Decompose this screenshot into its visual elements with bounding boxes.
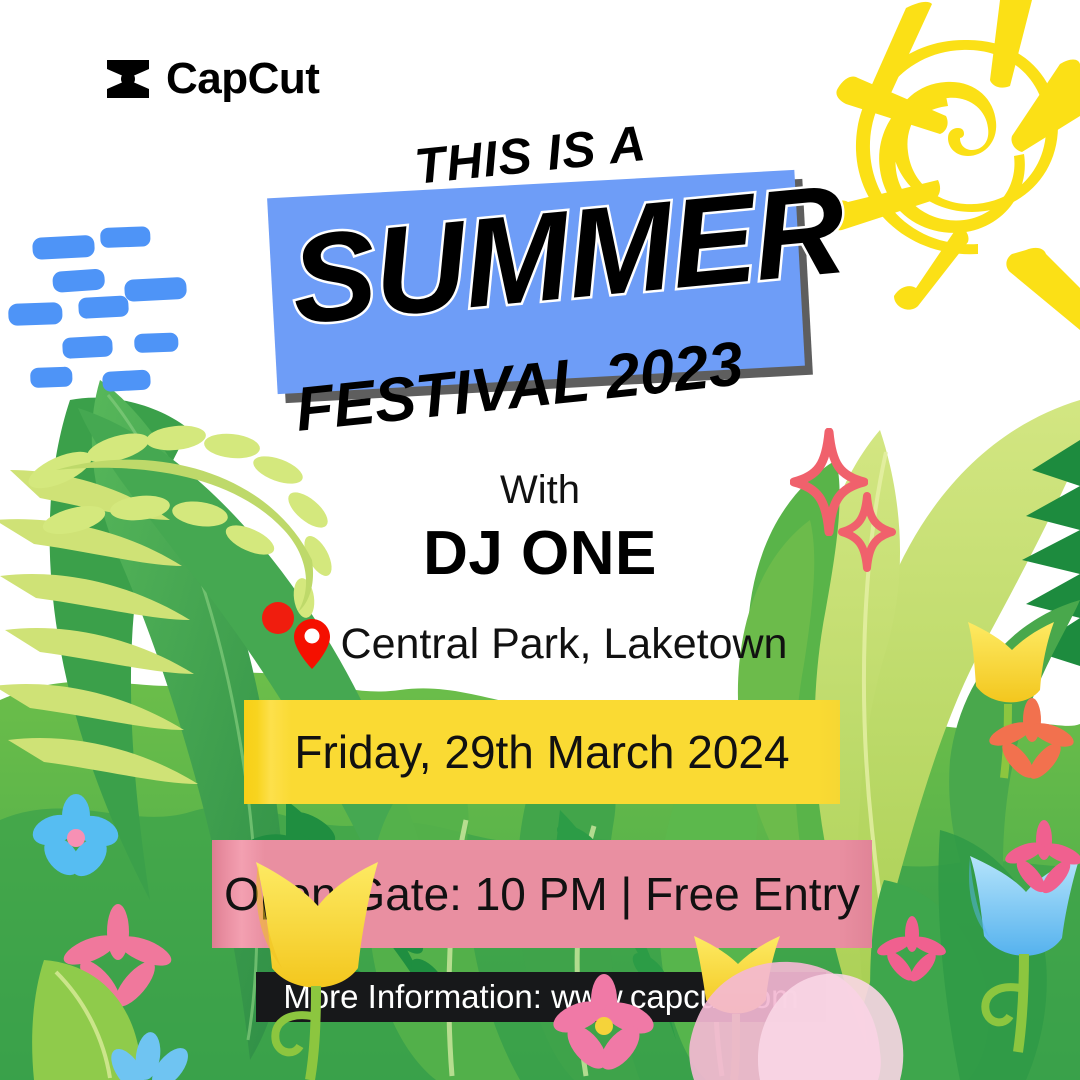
blue-flower-bottom [105, 1031, 195, 1080]
time-banner: Open Gate: 10 PM | Free Entry [212, 840, 872, 948]
location-pin-icon [293, 618, 331, 670]
coral-flower [986, 698, 1077, 784]
pink-flower-left [60, 904, 175, 1013]
blue-flower [29, 794, 123, 883]
date-banner: Friday, 29th March 2024 [244, 700, 840, 804]
blue-tulip-right [969, 856, 1080, 1052]
capcut-wordmark: CapCut [166, 57, 319, 101]
with-label: With [0, 468, 1080, 513]
capcut-logo-icon [104, 57, 152, 101]
pink-flower-right-1 [1002, 820, 1080, 897]
summer-festival-poster: CapCut THIS IS A SUMMER FESTIVAL 2023 Wi… [0, 0, 1080, 1080]
date-text: Friday, 29th March 2024 [294, 725, 789, 779]
capcut-logo[interactable]: CapCut [104, 57, 319, 101]
location-text: Central Park, Laketown [341, 620, 788, 669]
time-text: Open Gate: 10 PM | Free Entry [224, 867, 860, 921]
info-text: More Information: www.capcut.com [283, 978, 798, 1016]
performer-name: DJ ONE [0, 518, 1080, 589]
location-row: Central Park, Laketown [0, 618, 1080, 670]
info-banner[interactable]: More Information: www.capcut.com [256, 972, 826, 1022]
pink-flower-right-2 [875, 916, 949, 985]
headline-block: THIS IS A SUMMER FESTIVAL 2023 [0, 120, 1080, 460]
